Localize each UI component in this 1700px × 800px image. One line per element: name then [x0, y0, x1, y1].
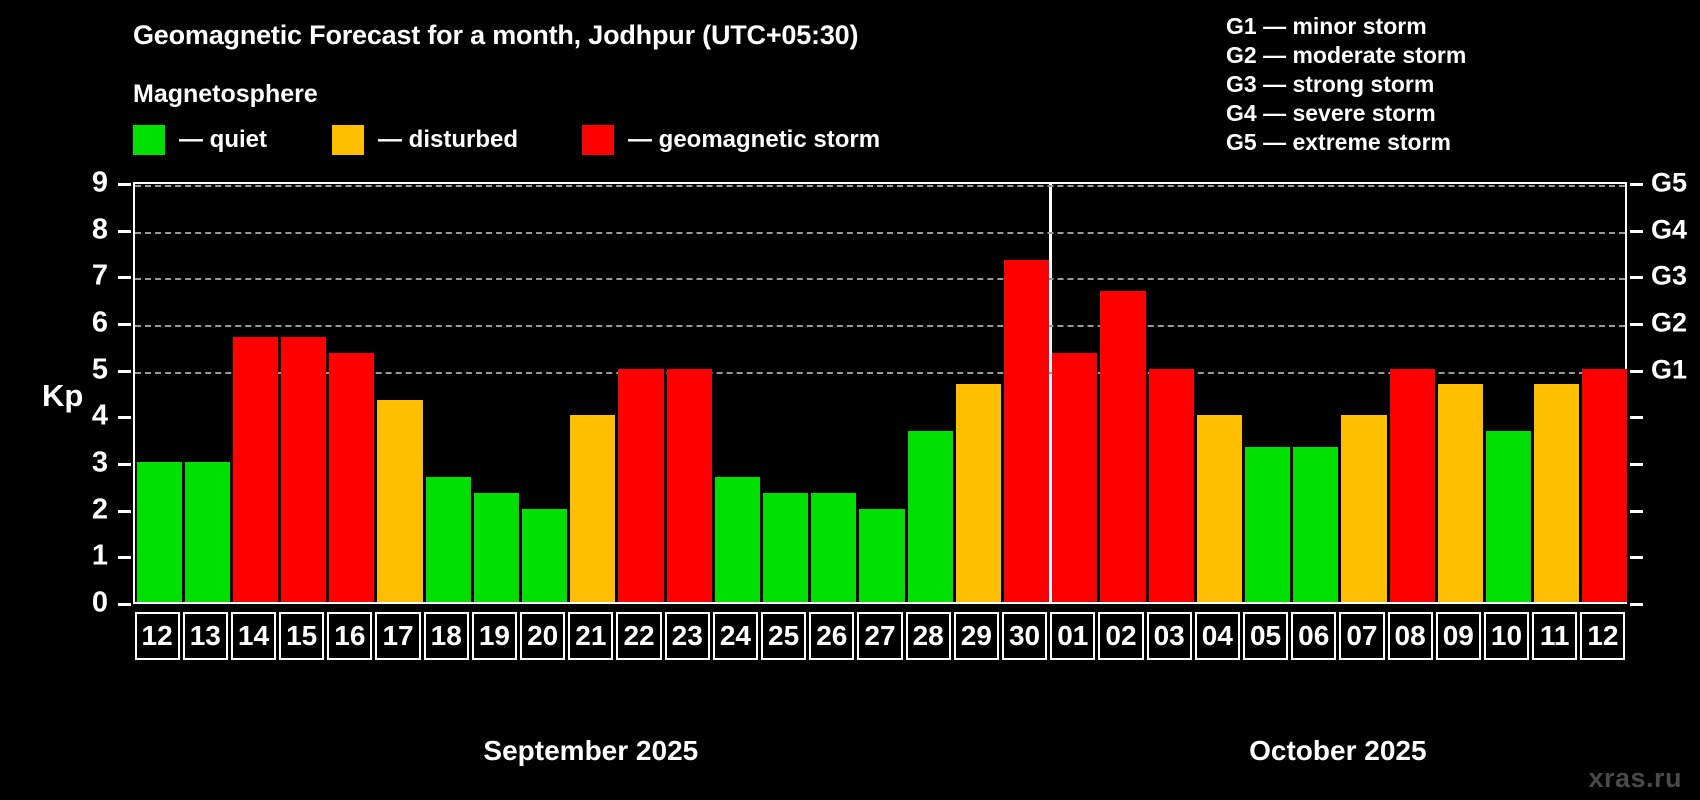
y-tick-label-9: 9: [68, 167, 108, 200]
date-label-4[interactable]: 16: [327, 612, 372, 660]
date-label-15[interactable]: 27: [857, 612, 902, 660]
bar-04[interactable]: [1197, 415, 1242, 602]
g-tick-mark-minor-3: [1630, 463, 1643, 466]
bar-13[interactable]: [185, 462, 230, 602]
watermark: xras.ru: [1588, 763, 1682, 794]
date-label-18[interactable]: 30: [1002, 612, 1047, 660]
page-title: Geomagnetic Forecast for a month, Jodhpu…: [133, 20, 858, 51]
month-caption-0: September 2025: [483, 735, 698, 767]
bar-06[interactable]: [1293, 447, 1338, 602]
date-label-2[interactable]: 14: [231, 612, 276, 660]
y-tick-label-6: 6: [68, 307, 108, 340]
g-scale-legend: G1 — minor stormG2 — moderate stormG3 — …: [1226, 12, 1466, 157]
date-label-1[interactable]: 13: [183, 612, 228, 660]
g-legend-row-1: G1 — minor storm: [1226, 12, 1466, 41]
y-tick-label-3: 3: [68, 447, 108, 480]
gridline-kp-9: [135, 185, 1625, 187]
bar-29[interactable]: [956, 384, 1001, 602]
legend-swatch-storm: [582, 125, 614, 155]
bar-10[interactable]: [1486, 431, 1531, 602]
y-tick-label-2: 2: [68, 493, 108, 526]
g-axis-label-G5: G5: [1651, 168, 1687, 199]
date-label-6[interactable]: 18: [424, 612, 469, 660]
date-label-11[interactable]: 23: [665, 612, 710, 660]
date-label-10[interactable]: 22: [616, 612, 661, 660]
date-label-14[interactable]: 26: [809, 612, 854, 660]
g-tick-mark-minor-1: [1630, 556, 1643, 559]
g-tick-mark-G1: [1630, 370, 1643, 373]
bar-20[interactable]: [522, 509, 567, 602]
g-tick-mark-G4: [1630, 230, 1643, 233]
g-tick-mark-G5: [1630, 183, 1643, 186]
date-label-0[interactable]: 12: [135, 612, 180, 660]
y-tick-mark-5: [118, 370, 131, 373]
legend-swatch-quiet: [133, 125, 165, 155]
bar-15[interactable]: [281, 337, 326, 602]
date-label-23[interactable]: 05: [1243, 612, 1288, 660]
bar-16[interactable]: [329, 353, 374, 602]
y-tick-mark-1: [118, 556, 131, 559]
g-legend-row-3: G3 — strong storm: [1226, 70, 1466, 99]
bar-27[interactable]: [859, 509, 904, 602]
date-label-13[interactable]: 25: [761, 612, 806, 660]
date-label-27[interactable]: 09: [1436, 612, 1481, 660]
bar-18[interactable]: [426, 477, 471, 602]
bar-12[interactable]: [1582, 369, 1627, 602]
date-label-12[interactable]: 24: [713, 612, 758, 660]
gridline-kp-6: [135, 325, 1625, 327]
y-tick-mark-8: [118, 230, 131, 233]
bar-23[interactable]: [667, 369, 712, 602]
y-tick-label-1: 1: [68, 540, 108, 573]
date-label-17[interactable]: 29: [954, 612, 999, 660]
g-legend-row-5: G5 — extreme storm: [1226, 128, 1466, 157]
y-tick-mark-4: [118, 416, 131, 419]
g-tick-mark-minor-2: [1630, 510, 1643, 513]
legend-entry-quiet: — quiet: [133, 125, 267, 155]
y-tick-label-4: 4: [68, 400, 108, 433]
g-legend-row-4: G4 — severe storm: [1226, 99, 1466, 128]
bar-05[interactable]: [1245, 447, 1290, 602]
bar-11[interactable]: [1534, 384, 1579, 602]
date-label-8[interactable]: 20: [520, 612, 565, 660]
date-label-16[interactable]: 28: [906, 612, 951, 660]
bar-17[interactable]: [377, 400, 422, 602]
y-tick-label-7: 7: [68, 260, 108, 293]
bar-30[interactable]: [1004, 260, 1049, 602]
bar-26[interactable]: [811, 493, 856, 602]
date-label-19[interactable]: 01: [1050, 612, 1095, 660]
bar-01[interactable]: [1052, 353, 1097, 602]
date-label-24[interactable]: 06: [1291, 612, 1336, 660]
bar-03[interactable]: [1149, 369, 1194, 602]
y-tick-mark-0: [118, 603, 131, 606]
y-tick-label-0: 0: [68, 587, 108, 620]
g-axis-label-G4: G4: [1651, 214, 1687, 245]
bar-07[interactable]: [1341, 415, 1386, 602]
legend-label-disturbed: — disturbed: [378, 126, 518, 154]
y-tick-mark-9: [118, 183, 131, 186]
g-axis-label-G3: G3: [1651, 261, 1687, 292]
date-label-7[interactable]: 19: [472, 612, 517, 660]
g-axis-label-G2: G2: [1651, 308, 1687, 339]
bar-28[interactable]: [908, 431, 953, 602]
date-label-28[interactable]: 10: [1484, 612, 1529, 660]
bar-12[interactable]: [137, 462, 182, 602]
g-tick-mark-minor-0: [1630, 603, 1643, 606]
y-tick-mark-3: [118, 463, 131, 466]
date-label-26[interactable]: 08: [1388, 612, 1433, 660]
date-label-21[interactable]: 03: [1147, 612, 1192, 660]
date-label-9[interactable]: 21: [568, 612, 613, 660]
y-tick-mark-6: [118, 323, 131, 326]
y-tick-label-5: 5: [68, 353, 108, 386]
bar-02[interactable]: [1100, 291, 1145, 602]
legend-label-storm: — geomagnetic storm: [628, 126, 880, 154]
gridline-kp-7: [135, 278, 1625, 280]
legend-entry-storm: — geomagnetic storm: [582, 125, 880, 155]
plot-area: [133, 182, 1627, 604]
y-tick-mark-7: [118, 276, 131, 279]
date-label-20[interactable]: 02: [1098, 612, 1143, 660]
date-label-5[interactable]: 17: [375, 612, 420, 660]
bar-19[interactable]: [474, 493, 519, 602]
date-label-25[interactable]: 07: [1339, 612, 1384, 660]
date-label-3[interactable]: 15: [279, 612, 324, 660]
date-label-30[interactable]: 12: [1580, 612, 1625, 660]
bar-21[interactable]: [570, 415, 615, 602]
g-tick-mark-G2: [1630, 323, 1643, 326]
bar-09[interactable]: [1438, 384, 1483, 602]
bar-08[interactable]: [1390, 369, 1435, 602]
g-tick-mark-minor-4: [1630, 416, 1643, 419]
geomagnetic-forecast-chart: Geomagnetic Forecast for a month, Jodhpu…: [0, 0, 1700, 800]
bar-14[interactable]: [233, 337, 278, 602]
legend-entry-disturbed: — disturbed: [332, 125, 518, 155]
g-tick-mark-G3: [1630, 276, 1643, 279]
month-caption-1: October 2025: [1249, 735, 1426, 767]
g-axis-label-G1: G1: [1651, 354, 1687, 385]
y-tick-label-8: 8: [68, 213, 108, 246]
bar-24[interactable]: [715, 477, 760, 602]
magnetosphere-label: Magnetosphere: [133, 80, 318, 109]
date-label-22[interactable]: 04: [1195, 612, 1240, 660]
gridline-kp-8: [135, 232, 1625, 234]
legend-swatch-disturbed: [332, 125, 364, 155]
legend-label-quiet: — quiet: [179, 126, 267, 154]
g-legend-row-2: G2 — moderate storm: [1226, 41, 1466, 70]
date-label-29[interactable]: 11: [1532, 612, 1577, 660]
bar-25[interactable]: [763, 493, 808, 602]
bar-22[interactable]: [618, 369, 663, 602]
y-tick-mark-2: [118, 510, 131, 513]
